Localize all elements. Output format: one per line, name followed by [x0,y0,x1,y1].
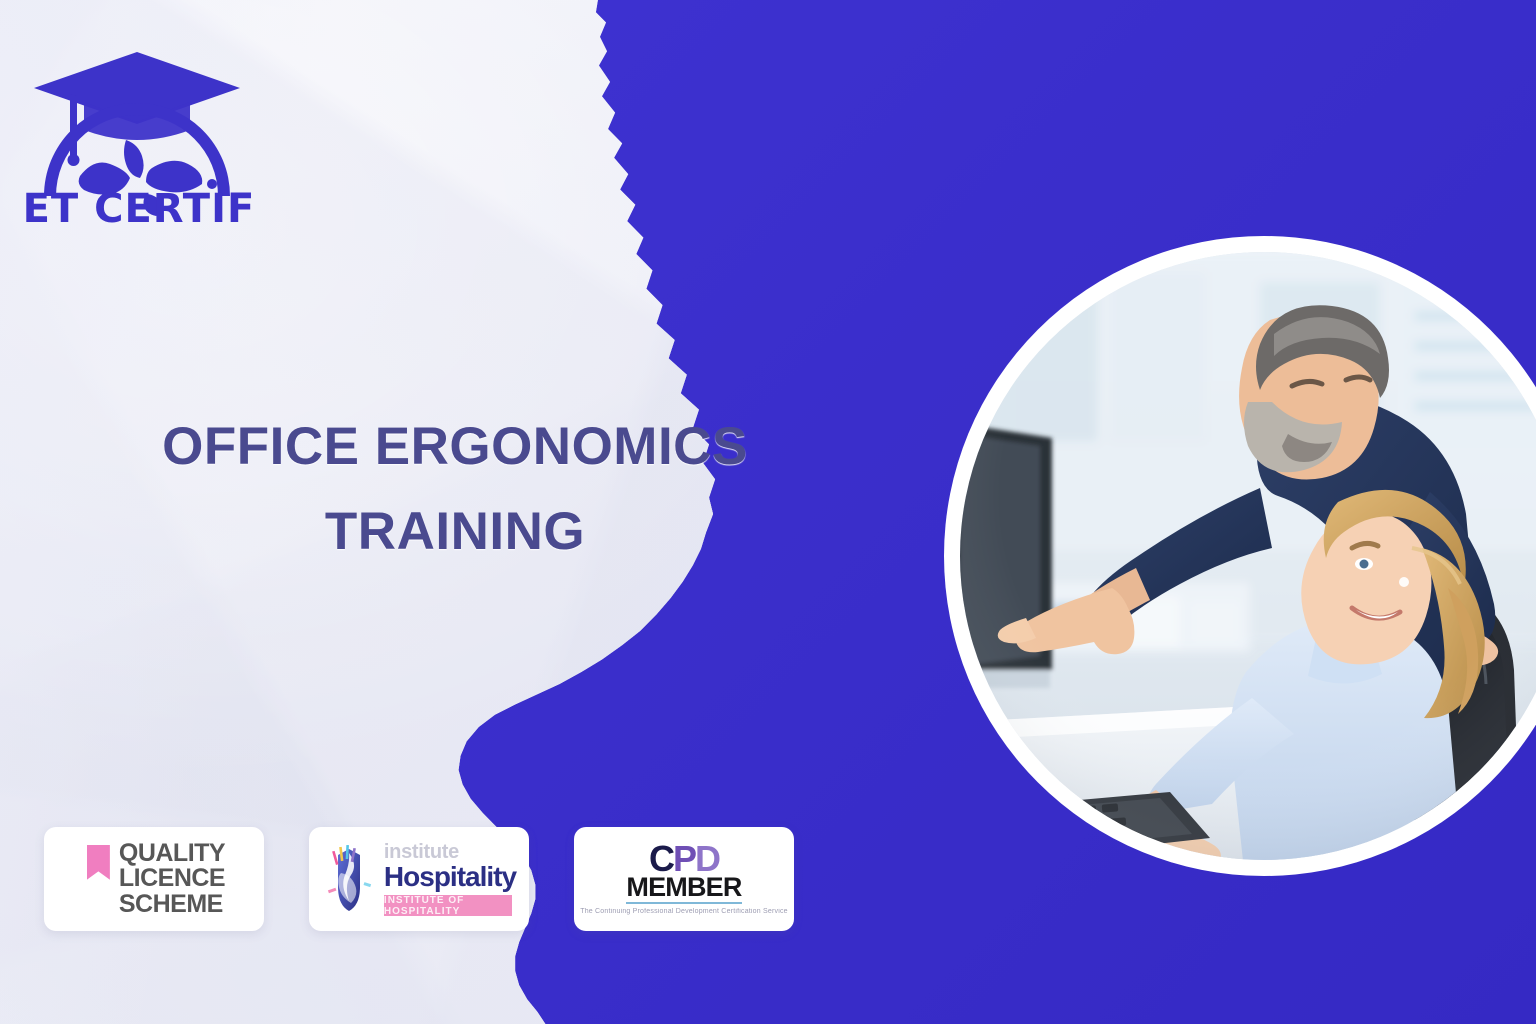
page-title: OFFICE ERGONOMICS TRAINING [60,404,850,576]
title-line-1: OFFICE ERGONOMICS [162,417,748,476]
ioh-banner: INSTITUTE OF HOSPITALITY [384,895,512,916]
title-line-2: TRAINING [60,489,850,575]
svg-text:GET CERTIFY: GET CERTIFY [22,186,252,224]
qls-line-2: LICENCE [119,866,225,892]
qls-line-1: QUALITY [119,841,225,867]
badge-quality-licence-scheme[interactable]: QUALITY LICENCE SCHEME [44,827,264,931]
accreditation-badges: QUALITY LICENCE SCHEME [44,827,794,931]
cpd-subtext: The Continuing Professional Development … [580,908,788,917]
hospitality-emblem-icon [322,843,377,915]
qls-line-3: SCHEME [119,892,225,918]
ioh-banner-text: INSTITUTE OF HOSPITALITY [384,895,512,917]
hero-photo [960,252,1536,860]
badge-institute-of-hospitality[interactable]: institute Hospitality INSTITUTE OF HOSPI… [309,827,529,931]
brand-logo[interactable]: GET CERTIFY [22,44,252,224]
badge-cpd-member[interactable]: CPD MEMBER The Continuing Professional D… [574,827,794,931]
graduation-cap-globe-icon: GET CERTIFY [22,44,252,224]
office-ergonomics-photo [960,252,1536,860]
poster-canvas: GET CERTIFY OFFICE ERGONOMICS TRAINING Q… [0,0,1536,1024]
pink-bookmark-icon [87,845,110,880]
cpd-member-word: MEMBER [626,874,741,904]
ioh-hospitality-word: Hospitality [384,863,516,891]
ioh-institute-word: institute [384,842,459,862]
